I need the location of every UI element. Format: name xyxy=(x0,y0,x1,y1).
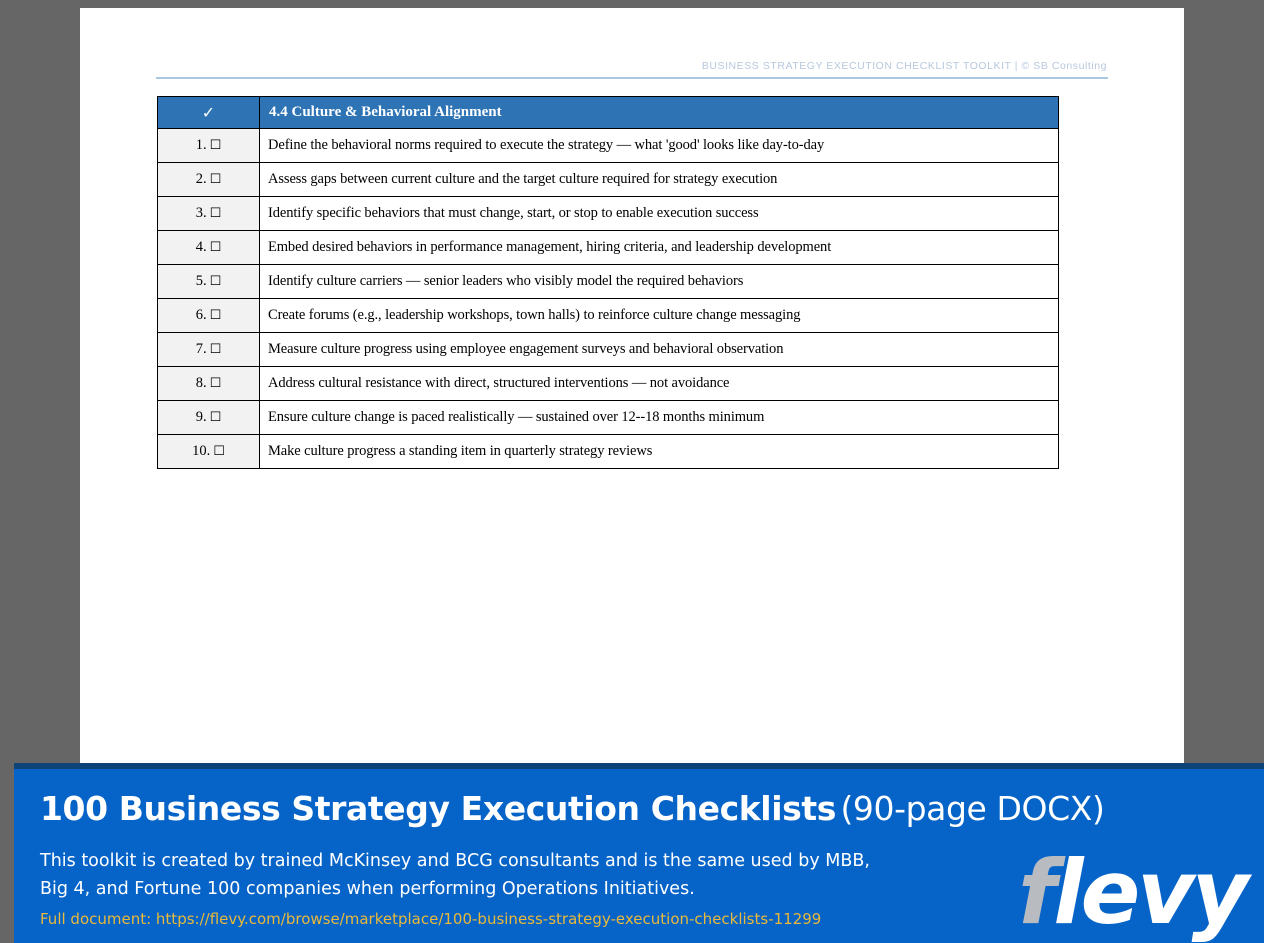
row-item-text: Address cultural resistance with direct,… xyxy=(260,367,1059,401)
promo-title-bold: 100 Business Strategy Execution Checklis… xyxy=(40,789,836,828)
row-item-text: Create forums (e.g., leadership workshop… xyxy=(260,299,1059,333)
table-row: 6.☐Create forums (e.g., leadership works… xyxy=(158,299,1059,333)
row-number: 5. xyxy=(196,273,207,289)
checkbox-icon[interactable]: ☐ xyxy=(207,410,222,425)
table-row: 2.☐Assess gaps between current culture a… xyxy=(158,163,1059,197)
checklist-table: ✓ 4.4 Culture & Behavioral Alignment 1.☐… xyxy=(157,96,1059,469)
checkbox-icon[interactable]: ☐ xyxy=(207,240,222,255)
table-row: 1.☐Define the behavioral norms required … xyxy=(158,129,1059,163)
table-row: 3.☐Identify specific behaviors that must… xyxy=(158,197,1059,231)
row-checkbox-cell[interactable]: 1.☐ xyxy=(158,129,260,163)
flevy-logo-levy: levy xyxy=(1053,841,1246,943)
row-number: 4. xyxy=(196,239,207,255)
row-item-text: Ensure culture change is paced realistic… xyxy=(260,401,1059,435)
row-number: 8. xyxy=(196,375,207,391)
checkbox-icon[interactable]: ☐ xyxy=(210,444,225,459)
table-row: 10.☐Make culture progress a standing ite… xyxy=(158,435,1059,469)
table-row: 5.☐Identify culture carriers — senior le… xyxy=(158,265,1059,299)
promo-title: 100 Business Strategy Execution Checklis… xyxy=(40,789,1104,828)
checkbox-icon[interactable]: ☐ xyxy=(207,274,222,289)
table-row: 8.☐Address cultural resistance with dire… xyxy=(158,367,1059,401)
row-item-text: Make culture progress a standing item in… xyxy=(260,435,1059,469)
row-checkbox-cell[interactable]: 8.☐ xyxy=(158,367,260,401)
promo-description-line-2: Big 4, and Fortune 100 companies when pe… xyxy=(40,875,900,903)
promo-description: This toolkit is created by trained McKin… xyxy=(40,847,900,903)
promo-description-line-1: This toolkit is created by trained McKin… xyxy=(40,847,900,875)
row-item-text: Identify specific behaviors that must ch… xyxy=(260,197,1059,231)
flevy-logo-f: f xyxy=(1018,841,1053,943)
row-checkbox-cell[interactable]: 10.☐ xyxy=(158,435,260,469)
row-item-text: Identify culture carriers — senior leade… xyxy=(260,265,1059,299)
row-number: 3. xyxy=(196,205,207,221)
full-document-link[interactable]: Full document: https://flevy.com/browse/… xyxy=(40,910,821,928)
row-number: 9. xyxy=(196,409,207,425)
table-row: 7.☐Measure culture progress using employ… xyxy=(158,333,1059,367)
checkbox-icon[interactable]: ☐ xyxy=(207,376,222,391)
row-number: 6. xyxy=(196,307,207,323)
checkbox-icon[interactable]: ☐ xyxy=(207,308,222,323)
banner-top-strip xyxy=(14,763,1264,769)
document-running-header: BUSINESS STRATEGY EXECUTION CHECKLIST TO… xyxy=(156,60,1108,86)
row-item-text: Embed desired behaviors in performance m… xyxy=(260,231,1059,265)
row-checkbox-cell[interactable]: 4.☐ xyxy=(158,231,260,265)
running-header-text: BUSINESS STRATEGY EXECUTION CHECKLIST TO… xyxy=(156,60,1108,73)
row-number: 1. xyxy=(196,137,207,153)
flevy-logo[interactable]: flevy xyxy=(1018,849,1246,937)
checkbox-icon[interactable]: ☐ xyxy=(207,206,222,221)
row-item-text: Measure culture progress using employee … xyxy=(260,333,1059,367)
row-item-text: Define the behavioral norms required to … xyxy=(260,129,1059,163)
row-number: 10. xyxy=(192,443,210,459)
promo-title-light: (90-page DOCX) xyxy=(840,789,1104,828)
table-row: 9.☐Ensure culture change is paced realis… xyxy=(158,401,1059,435)
row-checkbox-cell[interactable]: 3.☐ xyxy=(158,197,260,231)
checklist-rows: 1.☐Define the behavioral norms required … xyxy=(158,129,1059,469)
checkbox-icon[interactable]: ☐ xyxy=(207,342,222,357)
row-checkbox-cell[interactable]: 6.☐ xyxy=(158,299,260,333)
table-row: 4.☐Embed desired behaviors in performanc… xyxy=(158,231,1059,265)
header-divider-rule xyxy=(156,77,1108,79)
row-number: 2. xyxy=(196,171,207,187)
checkbox-icon[interactable]: ☐ xyxy=(207,172,222,187)
table-header-row: ✓ 4.4 Culture & Behavioral Alignment xyxy=(158,97,1059,129)
row-checkbox-cell[interactable]: 2.☐ xyxy=(158,163,260,197)
table-section-title: 4.4 Culture & Behavioral Alignment xyxy=(260,97,1059,129)
document-page: BUSINESS STRATEGY EXECUTION CHECKLIST TO… xyxy=(80,8,1184,763)
row-item-text: Assess gaps between current culture and … xyxy=(260,163,1059,197)
checkbox-icon[interactable]: ☐ xyxy=(207,138,222,153)
row-checkbox-cell[interactable]: 5.☐ xyxy=(158,265,260,299)
row-number: 7. xyxy=(196,341,207,357)
checkmark-icon: ✓ xyxy=(158,97,260,129)
row-checkbox-cell[interactable]: 9.☐ xyxy=(158,401,260,435)
row-checkbox-cell[interactable]: 7.☐ xyxy=(158,333,260,367)
promo-banner: 100 Business Strategy Execution Checklis… xyxy=(14,763,1264,943)
